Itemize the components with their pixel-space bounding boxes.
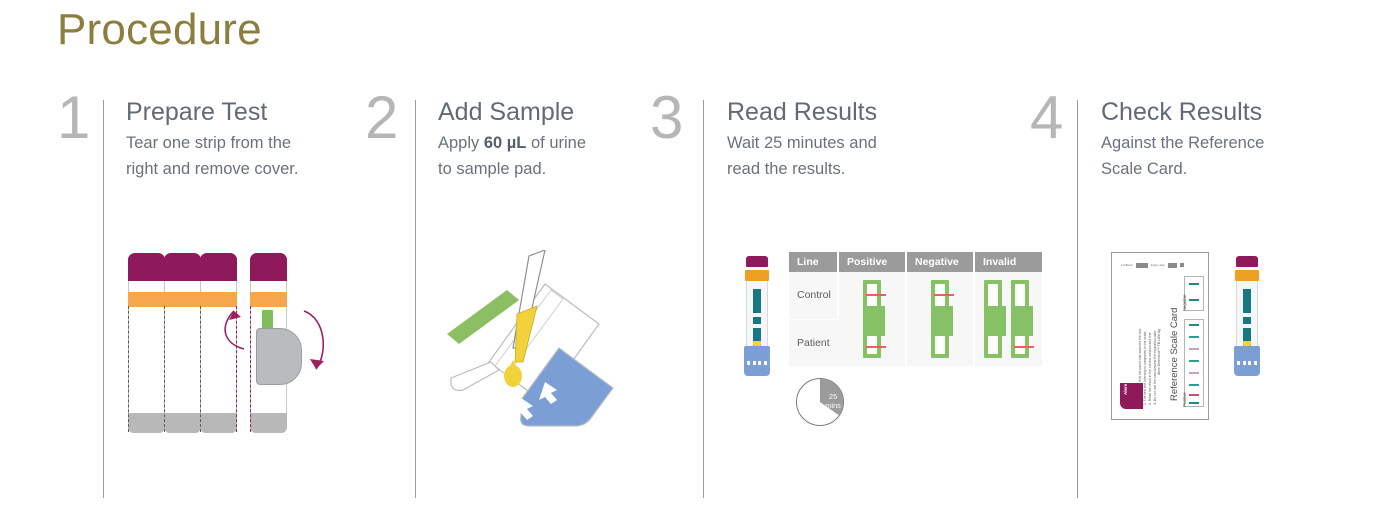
patient-line: [866, 346, 886, 348]
timer-unit: mins: [821, 401, 844, 410]
col-header-negative: Negative: [906, 252, 974, 272]
strip-cover-flap: [256, 328, 302, 385]
results-table: Line Positive Negative Invalid Control: [789, 252, 1042, 367]
result-strip-invalid-a: [984, 280, 1002, 358]
step-4-body: Against the Reference Scale Card.: [1101, 130, 1331, 182]
scale-line: [1189, 324, 1199, 326]
perforation-line: [128, 306, 129, 432]
strip-foot: [164, 413, 201, 433]
table-row: Control: [789, 272, 1042, 319]
scale-line: [1189, 336, 1199, 338]
scale-label-positive: Positive: [1182, 392, 1187, 407]
card-instruction-2: 2. The test line intensity is compared t…: [1143, 331, 1148, 405]
strip-cap: [128, 253, 165, 281]
step-1-divider: [103, 100, 104, 498]
tear-arrow-left: [216, 305, 260, 351]
procedure-page: Procedure 1 Prepare Test Tear one strip …: [0, 0, 1377, 529]
strip-segment: [1015, 306, 1033, 336]
test-strip: [128, 253, 165, 433]
step-3-text: Read Results Wait 25 minutes and read th…: [727, 96, 957, 182]
step-4-title: Check Results: [1101, 96, 1331, 128]
step-2-body: Apply 60 µL of urine to sample pad.: [438, 130, 653, 182]
step-2: 2 Add Sample Apply 60 µL of urine to sam…: [345, 96, 690, 506]
step-3-title: Read Results: [727, 96, 957, 128]
scale-line: [1189, 299, 1199, 301]
device-teal-segment: [753, 289, 761, 313]
result-strip-positive: [863, 280, 881, 358]
strip-foot: [128, 413, 165, 433]
device-orange-band: [1235, 270, 1259, 281]
step-3-body: Wait 25 minutes and read the results.: [727, 130, 957, 182]
step-3-body-line-1: Wait 25 minutes and: [727, 130, 957, 156]
device-teal-segment: [1243, 289, 1251, 313]
strip-orange-band: [128, 292, 165, 307]
device-teal-segment: [753, 317, 761, 324]
step-4-divider: [1077, 100, 1078, 498]
test-device-step4: [1234, 256, 1260, 376]
timer-icon: 25 mins: [796, 378, 844, 426]
card-instruction-4: 4. Do not use the card beyond the expira…: [1153, 330, 1158, 405]
step-2-volume: 60 µL: [484, 134, 527, 152]
step-1-body-line-1: Tear one strip from the: [126, 130, 336, 156]
step-2-text: Add Sample Apply 60 µL of urine to sampl…: [438, 96, 653, 182]
results-table-header-row: Line Positive Negative Invalid: [789, 252, 1042, 272]
step-3-divider: [703, 100, 704, 498]
step-2-title: Add Sample: [438, 96, 653, 128]
col-header-positive: Positive: [838, 252, 906, 272]
strip-segment: [867, 306, 885, 336]
scale-box-positive: [1184, 319, 1204, 407]
step-2-body-prefix: Apply: [438, 134, 484, 152]
test-strip: [164, 253, 201, 433]
scale-line: [1189, 348, 1199, 350]
control-line: [866, 294, 886, 296]
scale-line: [1189, 360, 1199, 362]
cell-invalid: [974, 272, 1042, 366]
scale-box-negative: [1184, 276, 1204, 311]
step-1-title: Prepare Test: [126, 96, 336, 128]
card-brand-line: Alere Determine™ TB LAM Ag: [1157, 329, 1162, 375]
strip-cap: [200, 253, 237, 281]
strip-segment: [988, 306, 1006, 336]
card-lot-barcode: [1136, 263, 1148, 268]
device-well-dots: [747, 361, 767, 365]
result-strip-negative: [931, 280, 949, 358]
page-title: Procedure: [57, 2, 262, 58]
timer-minutes: 25: [821, 392, 844, 401]
card-instruction-3: 3. Read the result in the correct window…: [1148, 332, 1153, 405]
perforation-line: [200, 306, 201, 432]
fold-arrow-right: [300, 305, 344, 377]
reference-scale-card: Lot/Batch Expiry date Alere Determine™ T…: [1111, 252, 1209, 420]
scale-line: [1189, 372, 1199, 374]
step-4-text: Check Results Against the Reference Scal…: [1101, 96, 1331, 182]
step-4-body-line-2: Scale Card.: [1101, 156, 1331, 182]
alere-logo: Alere: [1120, 383, 1143, 409]
col-header-invalid: Invalid: [974, 252, 1042, 272]
scale-line: [1189, 402, 1199, 404]
step-2-divider: [415, 100, 416, 498]
scale-label-negative: Negative: [1182, 294, 1187, 311]
step-1-text: Prepare Test Tear one strip from the rig…: [126, 96, 336, 182]
step-2-body-line-2: to sample pad.: [438, 156, 653, 182]
step-2-body-suffix: of urine: [526, 134, 586, 152]
perforation-line: [164, 306, 165, 432]
card-lot-label: Lot/Batch: [1121, 264, 1133, 267]
row-label-control: Control: [789, 272, 838, 319]
step-4-number: 4: [1030, 86, 1062, 150]
card-square-mark: [1180, 263, 1184, 267]
step-1-body-line-2: right and remove cover.: [126, 156, 336, 182]
strip-cap: [250, 253, 287, 281]
card-expiry-barcode: [1168, 263, 1177, 268]
device-teal-segment: [1243, 317, 1251, 324]
step-4-body-line-1: Against the Reference: [1101, 130, 1331, 156]
step-3-number: 3: [650, 86, 682, 150]
test-device-step3: [744, 256, 770, 376]
step-1: 1 Prepare Test Tear one strip from the r…: [0, 96, 345, 506]
step-1-number: 1: [57, 86, 89, 150]
row-label-patient: Patient: [789, 319, 838, 366]
result-strip-invalid-b: [1011, 280, 1029, 358]
scale-line: [1189, 394, 1199, 396]
device-orange-band: [745, 270, 769, 281]
step-2-body-line-1: Apply 60 µL of urine: [438, 130, 653, 156]
strip-foot: [200, 413, 237, 433]
card-heading: Reference Scale Card: [1169, 308, 1180, 401]
strip-segment: [935, 306, 953, 336]
alere-logo-text: Alere: [1123, 384, 1128, 395]
strip-foot: [250, 413, 287, 433]
device-well-dots: [1237, 361, 1257, 365]
control-line: [934, 294, 954, 296]
step-1-body: Tear one strip from the right and remove…: [126, 130, 336, 182]
cell-negative: [906, 272, 974, 366]
col-header-line: Line: [789, 252, 838, 272]
cell-positive: [838, 272, 906, 366]
device-sample-well: [744, 346, 770, 376]
card-expiry-label: Expiry date: [1151, 264, 1165, 267]
pipette-sample-pad-illustration: [433, 250, 633, 440]
step-2-number: 2: [365, 86, 397, 150]
timer-label: 25 mins: [821, 392, 844, 410]
device-sample-well: [1234, 346, 1260, 376]
strip-orange-band: [164, 292, 201, 307]
scale-line: [1189, 384, 1199, 386]
patient-line: [1014, 346, 1034, 348]
device-cap: [1236, 256, 1258, 267]
scale-line: [1189, 283, 1199, 285]
card-top-marks: Lot/Batch Expiry date: [1121, 262, 1201, 268]
step-3-body-line-2: read the results.: [727, 156, 957, 182]
device-cap: [746, 256, 768, 267]
strip-cap: [164, 253, 201, 281]
